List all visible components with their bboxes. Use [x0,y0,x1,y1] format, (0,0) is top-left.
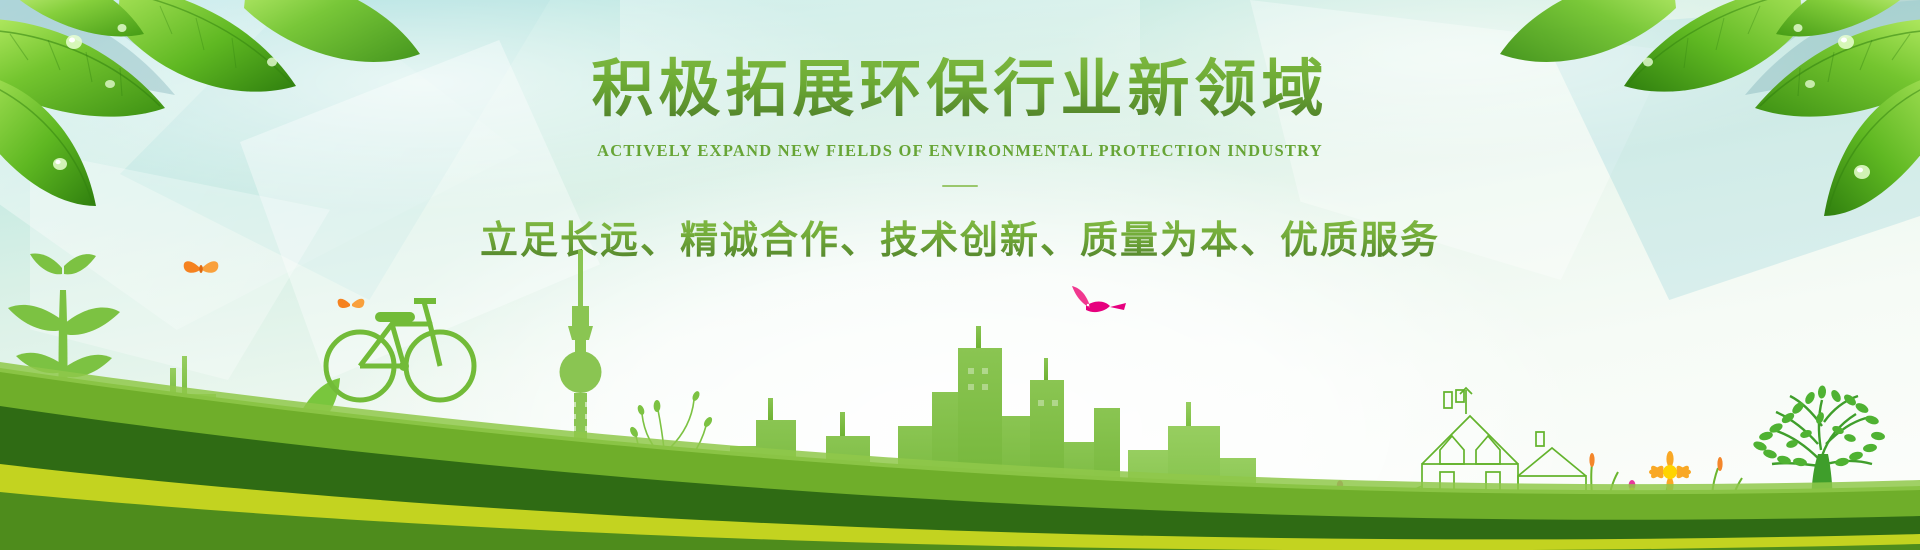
bottom-wave-bands [0,320,1920,550]
hummingbird [1072,286,1126,312]
divider-line [942,185,978,187]
butterfly-orange [184,261,219,273]
banner-text-block: 积极拓展环保行业新领域 ACTIVELY EXPAND NEW FIELDS O… [0,56,1920,264]
eco-banner: 积极拓展环保行业新领域 ACTIVELY EXPAND NEW FIELDS O… [0,0,1920,550]
page-title: 积极拓展环保行业新领域 [0,56,1920,125]
butterfly-orange-2 [338,299,365,308]
subtitle-english: ACTIVELY EXPAND NEW FIELDS OF ENVIRONMEN… [0,141,1920,161]
